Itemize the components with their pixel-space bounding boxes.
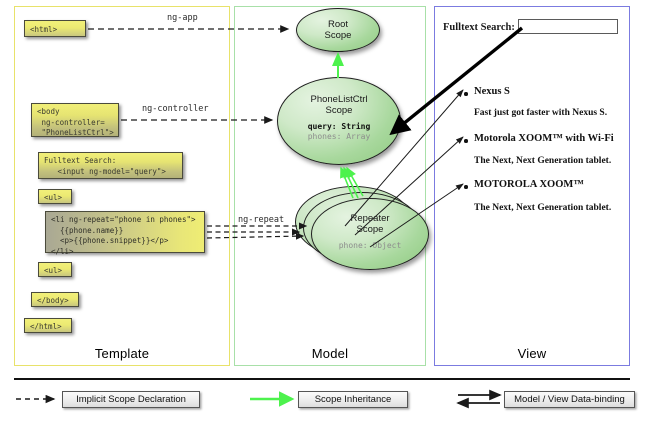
scope-repeater-title: Repeater Scope: [350, 213, 389, 236]
code-box-fulltext-search: Fulltext Search: <input ng-model="query"…: [38, 152, 183, 179]
view-search-input[interactable]: [518, 19, 618, 34]
view-item-title-0: Nexus S: [474, 86, 510, 97]
column-model: Model: [234, 6, 426, 366]
scope-root-title: Root Scope: [325, 19, 352, 42]
code-box-ul-close: <ul>: [38, 262, 72, 277]
legend-divider: [14, 378, 630, 380]
view-item-title-2: MOTOROLA XOOM™: [474, 179, 584, 190]
scope-repeater: Repeater Scope phone: Object: [311, 198, 429, 270]
diagram-canvas: Template Model View <html> <body ng-cont…: [0, 0, 645, 425]
view-bullet-1: [464, 139, 468, 143]
code-box-li-ng-repeat: <li ng-repeat="phone in phones"> {{phone…: [45, 211, 205, 253]
view-item-title-1: Motorola XOOM™ with Wi-Fi: [474, 133, 614, 144]
view-item-snippet-2: The Next, Next Generation tablet.: [474, 203, 611, 213]
scope-phonelistctrl-title: PhoneListCtrl Scope: [310, 94, 367, 117]
view-item-snippet-0: Fast just got faster with Nexus S.: [474, 108, 607, 118]
column-label-view: View: [435, 346, 629, 361]
code-box-html-open: <html>: [24, 20, 86, 37]
scope-prop-phone: phone: Object: [339, 241, 402, 251]
code-box-ul-open: <ul>: [38, 189, 72, 204]
edge-label-ng-repeat: ng-repeat: [238, 215, 284, 225]
scope-phonelistctrl: PhoneListCtrl Scope query: String phones…: [277, 77, 401, 165]
column-template: Template: [14, 6, 230, 366]
legend-item-model-view-data-binding: Model / View Data-binding: [504, 391, 635, 408]
legend-item-implicit-scope-declaration: Implicit Scope Declaration: [62, 391, 200, 408]
view-search-label: Fulltext Search:: [443, 22, 515, 33]
column-label-model: Model: [235, 346, 425, 361]
view-bullet-0: [464, 92, 468, 96]
code-box-body-close: </body>: [31, 292, 79, 307]
legend-item-scope-inheritance: Scope Inheritance: [298, 391, 408, 408]
edge-label-ng-app: ng-app: [167, 13, 198, 23]
code-box-html-close: </html>: [24, 318, 72, 333]
scope-repeater-props: phone: Object: [339, 241, 402, 251]
scope-root: Root Scope: [296, 8, 380, 52]
view-bullet-2: [464, 185, 468, 189]
scope-phonelistctrl-props: query: String phones: Array: [308, 122, 371, 143]
code-box-body-open: <body ng-controller= "PhoneListCtrl">: [31, 103, 119, 137]
column-label-template: Template: [15, 346, 229, 361]
scope-prop-phones: phones: Array: [308, 132, 371, 142]
scope-prop-query: query: String: [308, 122, 371, 132]
view-item-snippet-1: The Next, Next Generation tablet.: [474, 156, 611, 166]
edge-label-ng-controller: ng-controller: [142, 104, 209, 114]
